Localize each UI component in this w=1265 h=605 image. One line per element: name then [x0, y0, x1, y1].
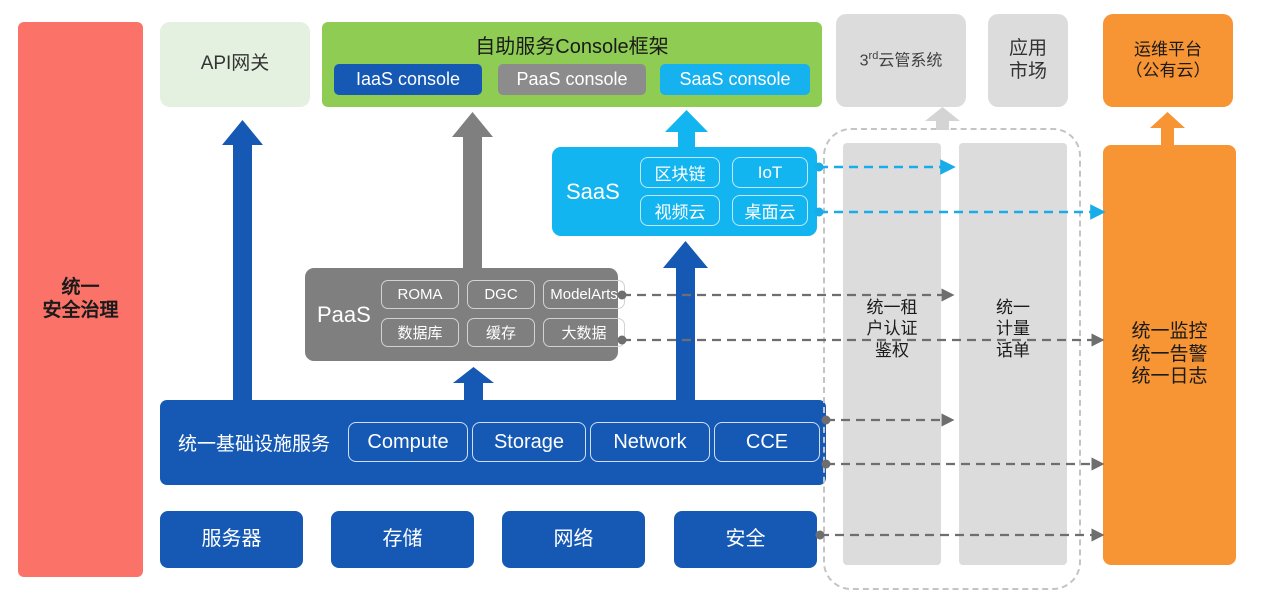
console-framework-title: 自助服务Console框架 [322, 30, 822, 59]
paas-service-modelarts[interactable]: ModelArts [543, 280, 625, 309]
arrow-shared-to-thirdparty [925, 107, 960, 130]
paas-layer-panel: PaaS ROMA DGC ModelArts 数据库 缓存 大数据 [305, 268, 618, 361]
hardware-label-security: 安全 [726, 528, 766, 552]
unified-monitoring-label: 统一监控 统一告警 统一日志 [1131, 321, 1207, 388]
saas-service-iot[interactable]: IoT [732, 157, 808, 188]
tenant-auth-column: 统一租 户认证 鉴权 [843, 143, 941, 565]
arrow-ops-up [1150, 112, 1185, 148]
saas-console-chip[interactable]: SaaS console [660, 64, 810, 95]
arrow-saas-to-console [665, 110, 708, 147]
infrastructure-service-panel: 统一基础设施服务 Compute Storage Network CCE [160, 400, 826, 485]
console-framework-panel: 自助服务Console框架 IaaS console PaaS console … [322, 22, 822, 107]
hardware-box-security: 安全 [674, 511, 817, 568]
hardware-box-server: 服务器 [160, 511, 303, 568]
paas-layer-label: PaaS [317, 268, 371, 361]
third-party-cloud-mgmt-box: 3rd云管系统 [836, 14, 966, 107]
paas-service-roma[interactable]: ROMA [381, 280, 459, 309]
infrastructure-service-label: 统一基础设施服务 [178, 400, 330, 485]
diagram-canvas: 统一 安全治理 API网关 自助服务Console框架 IaaS console… [0, 0, 1265, 605]
api-gateway-box: API网关 [160, 22, 310, 107]
saas-service-video-cloud[interactable]: 视频云 [640, 195, 720, 226]
app-market-box: 应用 市场 [988, 14, 1068, 107]
saas-service-desktop-cloud[interactable]: 桌面云 [732, 195, 808, 226]
paas-service-cache[interactable]: 缓存 [467, 318, 535, 347]
arrow-infra-to-saas [663, 241, 708, 400]
saas-service-blockchain[interactable]: 区块链 [640, 157, 720, 188]
arrow-infra-to-paas [453, 367, 494, 400]
security-governance-label: 统一 安全治理 [42, 277, 118, 322]
api-gateway-label: API网关 [201, 53, 270, 75]
app-market-label: 应用 市场 [1009, 38, 1047, 83]
paas-service-bigdata[interactable]: 大数据 [543, 318, 625, 347]
arrow-paas-to-console [452, 112, 493, 268]
hardware-box-storage: 存储 [331, 511, 474, 568]
tenant-auth-label: 统一租 户认证 鉴权 [867, 297, 918, 361]
ops-platform-label: 运维平台 （公有云） [1126, 40, 1211, 80]
security-governance-panel: 统一 安全治理 [18, 22, 143, 577]
hardware-label-storage: 存储 [383, 528, 423, 552]
third-party-cloud-mgmt-label: 3rd云管系统 [860, 50, 943, 71]
hardware-label-server: 服务器 [202, 528, 262, 552]
metering-billing-column: 统一 计量 话单 [959, 143, 1067, 565]
infra-service-network[interactable]: Network [590, 422, 710, 462]
unified-monitoring-panel: 统一监控 统一告警 统一日志 [1103, 145, 1236, 565]
ops-platform-box: 运维平台 （公有云） [1103, 14, 1233, 107]
arrow-infra-to-apigw [222, 120, 263, 400]
paas-console-chip[interactable]: PaaS console [498, 64, 646, 95]
metering-billing-label: 统一 计量 话单 [996, 297, 1030, 361]
infra-service-compute[interactable]: Compute [348, 422, 468, 462]
iaas-console-chip[interactable]: IaaS console [334, 64, 482, 95]
infra-service-storage[interactable]: Storage [472, 422, 586, 462]
paas-service-dgc[interactable]: DGC [467, 280, 535, 309]
hardware-box-network: 网络 [502, 511, 645, 568]
saas-layer-label: SaaS [566, 147, 620, 236]
infra-service-cce[interactable]: CCE [714, 422, 820, 462]
saas-layer-panel: SaaS 区块链 IoT 视频云 桌面云 [552, 147, 817, 236]
paas-service-database[interactable]: 数据库 [381, 318, 459, 347]
hardware-label-network: 网络 [554, 528, 594, 552]
